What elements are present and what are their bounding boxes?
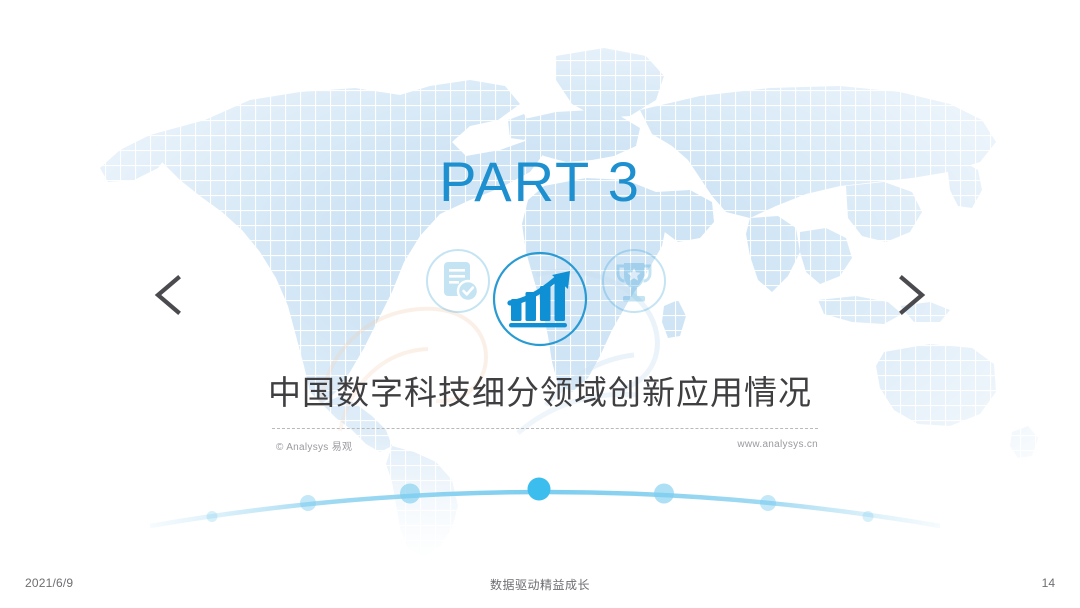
part-title: PART 3 — [0, 149, 1080, 214]
bar-chart-growth-icon[interactable] — [484, 243, 596, 360]
progress-dot[interactable] — [863, 511, 874, 522]
footer-page-number: 14 — [0, 576, 1055, 590]
section-progress-arc — [150, 462, 940, 552]
website-url: www.analysys.cn — [0, 439, 818, 450]
section-icon-cluster — [0, 243, 1080, 353]
progress-dot[interactable] — [207, 511, 218, 522]
trophy-icon[interactable] — [596, 243, 672, 324]
dashed-divider — [272, 428, 818, 429]
progress-dot[interactable] — [654, 484, 674, 504]
progress-dot-active[interactable] — [528, 478, 551, 501]
slide-canvas: PART 3 — [0, 0, 1080, 608]
progress-dot[interactable] — [300, 495, 316, 511]
progress-dot[interactable] — [760, 495, 776, 511]
page-title: 中国数字科技细分领域创新应用情况 — [0, 373, 1080, 413]
progress-dot[interactable] — [400, 484, 420, 504]
